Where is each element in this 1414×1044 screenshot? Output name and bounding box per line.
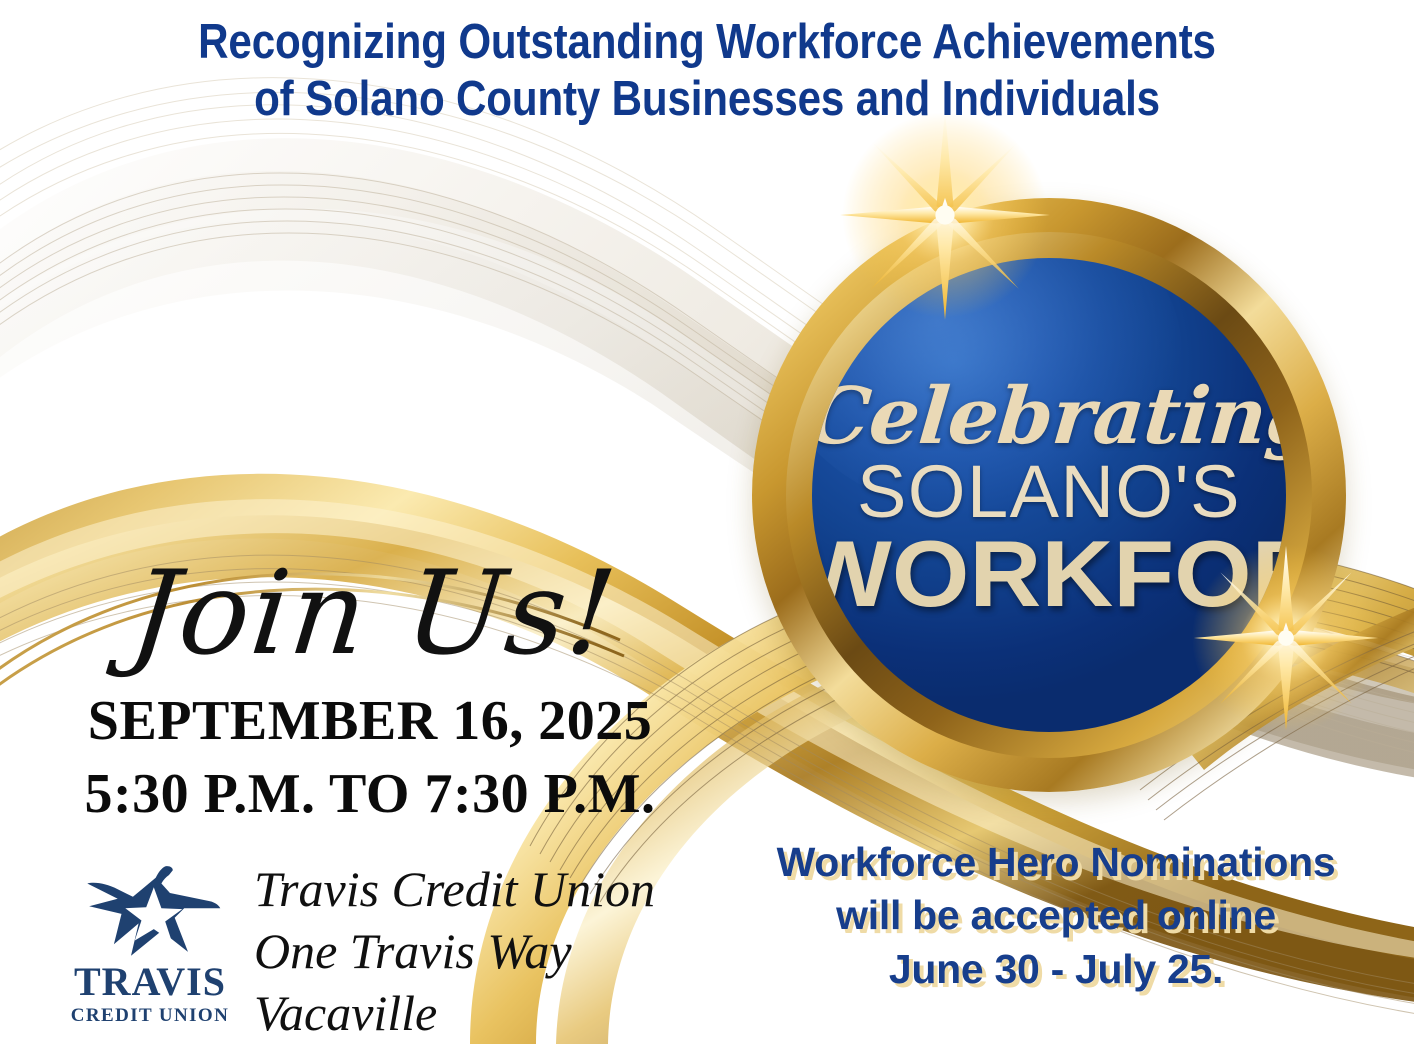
- event-datetime: SEPTEMBER 16, 2025 5:30 P.M. TO 7:30 P.M…: [52, 692, 688, 825]
- travis-star-eagle-icon: [74, 864, 226, 960]
- badge-blue-face: Celebrating SOLANO'S WORKFORCE: [812, 258, 1286, 732]
- flyer-headline: Recognizing Outstanding Workforce Achiev…: [0, 14, 1414, 128]
- nominations-notice: Workforce Hero Nominations will be accep…: [706, 836, 1406, 996]
- travis-wordmark: TRAVIS: [66, 962, 234, 1002]
- nominations-line-3: June 30 - July 25.: [706, 943, 1406, 996]
- badge-script-celebrating: Celebrating: [812, 381, 1286, 453]
- event-time: 5:30 P.M. TO 7:30 P.M.: [52, 765, 688, 824]
- nominations-line-1: Workforce Hero Nominations: [706, 836, 1406, 889]
- venue-name: Travis Credit Union: [254, 858, 706, 920]
- venue-block: TRAVIS CREDIT UNION Travis Credit Union …: [66, 858, 706, 1044]
- travis-credit-union-logo: TRAVIS CREDIT UNION: [66, 858, 234, 1025]
- celebrating-solanos-workforce-badge: Celebrating SOLANO'S WORKFORCE: [752, 198, 1346, 792]
- headline-line-1: Recognizing Outstanding Workforce Achiev…: [99, 14, 1315, 71]
- venue-city: Vacaville: [254, 982, 706, 1044]
- badge-line-workforce: WORKFORCE: [812, 527, 1286, 621]
- venue-address: Travis Credit Union One Travis Way Vacav…: [234, 858, 706, 1044]
- credit-union-subtext: CREDIT UNION: [66, 1006, 234, 1025]
- join-us-script: Join Us!: [78, 556, 670, 672]
- flyer-canvas: Recognizing Outstanding Workforce Achiev…: [0, 0, 1414, 1044]
- venue-street: One Travis Way: [254, 920, 706, 982]
- headline-line-2: of Solano County Businesses and Individu…: [99, 71, 1315, 128]
- badge-line-solanos: SOLANO'S: [812, 455, 1286, 529]
- nominations-line-2: will be accepted online: [706, 889, 1406, 942]
- badge-text-group: Celebrating SOLANO'S WORKFORCE: [812, 369, 1286, 621]
- event-date: SEPTEMBER 16, 2025: [52, 692, 688, 751]
